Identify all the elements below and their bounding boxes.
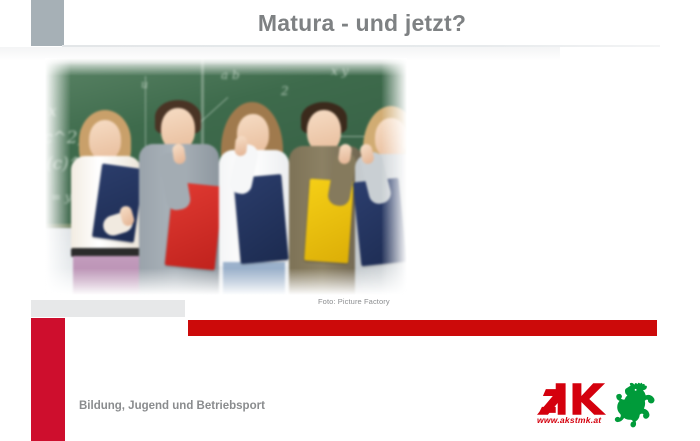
ak-logo[interactable]: www.akstmk.at [536,382,662,434]
slide-canvas: Matura - und jetzt? x c^2) (c)^2 = y u a… [0,0,700,441]
red-vertical-bar [31,318,65,441]
photo-credit: Foto: Picture Factory [318,297,390,306]
header-accent-bar [31,0,64,46]
hero-photo: x c^2) (c)^2 = y u a b 2 x y 5a 4a a2 [45,58,407,298]
styrian-panther-icon [614,382,660,428]
ak-wordmark-icon [536,382,610,418]
photo-softening [45,58,407,298]
page-title: Matura - und jetzt? [64,4,660,42]
ak-logo-url: www.akstmk.at [537,415,601,425]
red-horizontal-bar [188,320,657,336]
photo-scene: x c^2) (c)^2 = y u a b 2 x y 5a 4a a2 [45,58,407,298]
footer-department: Bildung, Jugend und Betriebsport [79,400,265,412]
gray-accent-band [31,300,185,317]
